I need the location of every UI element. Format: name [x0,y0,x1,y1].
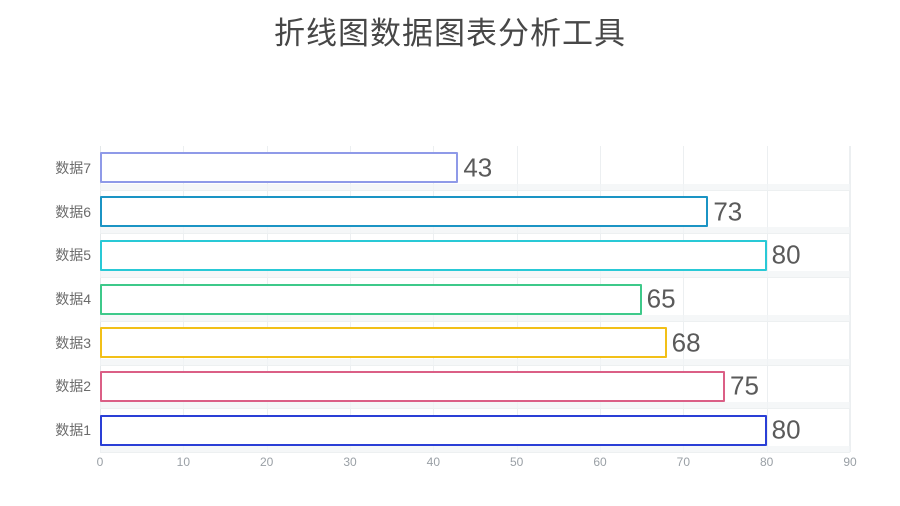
category-label-数据7: 数据7 [14,158,100,178]
row-separator [100,190,850,191]
bar-row[interactable]: 43 [100,152,850,183]
bar-value-label: 65 [642,284,676,315]
x-tick-label-40: 40 [427,455,440,469]
row-band [100,315,850,321]
plot-area: 43738065687580 [100,146,850,452]
bar-数据4[interactable] [100,284,642,315]
category-label-数据6: 数据6 [14,202,100,222]
bar-数据7[interactable] [100,152,458,183]
bar-数据2[interactable] [100,371,725,402]
category-label-数据2: 数据2 [14,376,100,396]
category-label-数据5: 数据5 [14,245,100,265]
row-separator [100,321,850,322]
bar-row[interactable]: 73 [100,196,850,227]
bar-value-label: 73 [708,196,742,227]
x-tick-label-70: 70 [677,455,690,469]
category-axis: 数据7数据6数据5数据4数据3数据2数据1 [0,146,100,452]
row-band [100,184,850,190]
category-label-数据3: 数据3 [14,333,100,353]
category-label-数据4: 数据4 [14,289,100,309]
x-axis-ticks: 0102030405060708090 [100,455,850,479]
bar-value-label: 80 [767,415,801,446]
row-separator [100,452,850,453]
x-tick-label-20: 20 [260,455,273,469]
chart-title: 折线图数据图表分析工具 [0,12,900,56]
row-separator [100,277,850,278]
row-separator [100,233,850,234]
bar-数据6[interactable] [100,196,708,227]
x-tick-label-30: 30 [343,455,356,469]
bar-value-label: 80 [767,240,801,271]
chart-container: 折线图数据图表分析工具 数据7数据6数据5数据4数据3数据2数据1 437380… [0,0,900,506]
bar-row[interactable]: 75 [100,371,850,402]
x-tick-label-90: 90 [843,455,856,469]
bar-数据3[interactable] [100,327,667,358]
category-label-数据1: 数据1 [14,420,100,440]
gridline-x-90 [850,146,851,452]
row-band [100,359,850,365]
bar-row[interactable]: 68 [100,327,850,358]
row-separator [100,365,850,366]
bar-row[interactable]: 65 [100,284,850,315]
bar-数据1[interactable] [100,415,767,446]
bar-row[interactable]: 80 [100,415,850,446]
x-tick-label-0: 0 [97,455,104,469]
bar-value-label: 68 [667,327,701,358]
bar-row[interactable]: 80 [100,240,850,271]
x-tick-label-60: 60 [593,455,606,469]
bar-value-label: 43 [458,152,492,183]
x-tick-label-50: 50 [510,455,523,469]
x-tick-label-10: 10 [177,455,190,469]
bar-数据5[interactable] [100,240,767,271]
row-separator [100,408,850,409]
x-tick-label-80: 80 [760,455,773,469]
bar-value-label: 75 [725,371,759,402]
